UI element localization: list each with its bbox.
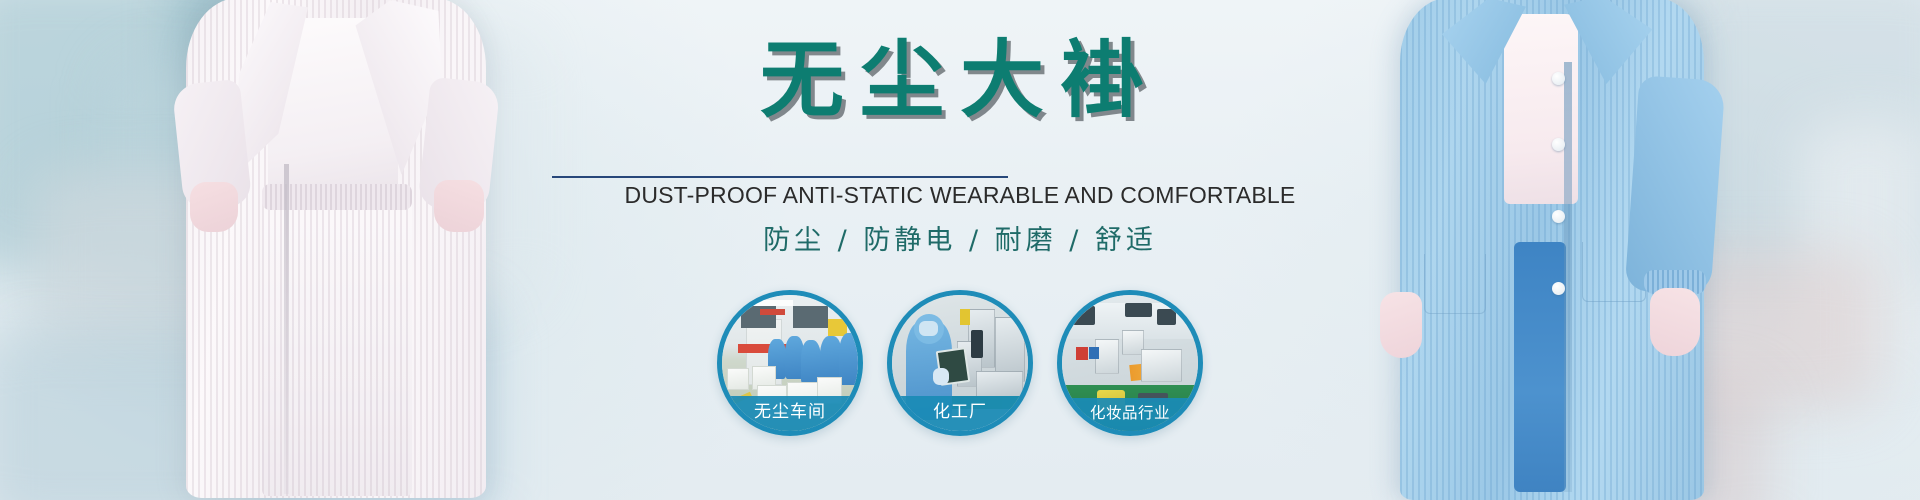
industry-badge-row: 无尘车间 化工厂	[480, 290, 1440, 436]
product-banner: 无尘大褂 DUST-PROOF ANTI-STATIC WEARABLE AND…	[0, 0, 1920, 500]
glove-right	[1650, 288, 1700, 356]
red-component	[1076, 347, 1088, 361]
glove-right	[434, 180, 484, 232]
industry-badge-label: 化工厂	[892, 396, 1028, 431]
cleanroom-worker	[839, 333, 861, 385]
industry-badge-cosmetics[interactable]: 化妆品行业	[1057, 290, 1203, 436]
industry-badge-cleanroom[interactable]: 无尘车间	[717, 290, 863, 436]
industry-badge-label: 化妆品行业	[1062, 398, 1198, 431]
title-divider-rule	[552, 176, 1008, 178]
worker-face-mask	[919, 321, 938, 336]
coat-front-opening	[284, 164, 289, 494]
inner-garment	[1514, 242, 1566, 492]
monitor-screen	[1125, 303, 1152, 317]
machine-panel	[971, 330, 983, 357]
sleeve-right	[1625, 75, 1726, 295]
monitor-screen	[1157, 309, 1176, 325]
coat-button	[1552, 282, 1565, 295]
door-window	[793, 306, 828, 328]
white-antistatic-coat-model	[152, 0, 516, 500]
banner-subtitle-chinese: 防尘 / 防静电 / 耐磨 / 舒适	[480, 218, 1440, 257]
coat-button	[1552, 210, 1565, 223]
warning-placard	[960, 309, 970, 325]
monitor-screen	[1073, 306, 1095, 325]
banner-subtitle-english: DUST-PROOF ANTI-STATIC WEARABLE AND COMF…	[480, 182, 1440, 209]
industry-badge-label: 无尘车间	[722, 396, 858, 431]
coat-button	[1552, 72, 1565, 85]
coat-placket	[1564, 62, 1572, 492]
blue-component	[1089, 347, 1099, 359]
glove-left	[190, 182, 238, 232]
gloved-hand	[933, 368, 949, 384]
banner-title: 无尘大褂	[480, 38, 1440, 122]
storage-crate	[727, 368, 749, 390]
wall-sign	[760, 309, 784, 316]
coat-button	[1552, 138, 1565, 151]
equipment-box	[1141, 349, 1182, 382]
banner-copy: 无尘大褂 DUST-PROOF ANTI-STATIC WEARABLE AND…	[480, 0, 1440, 500]
industry-badge-chemical-plant[interactable]: 化工厂	[887, 290, 1033, 436]
